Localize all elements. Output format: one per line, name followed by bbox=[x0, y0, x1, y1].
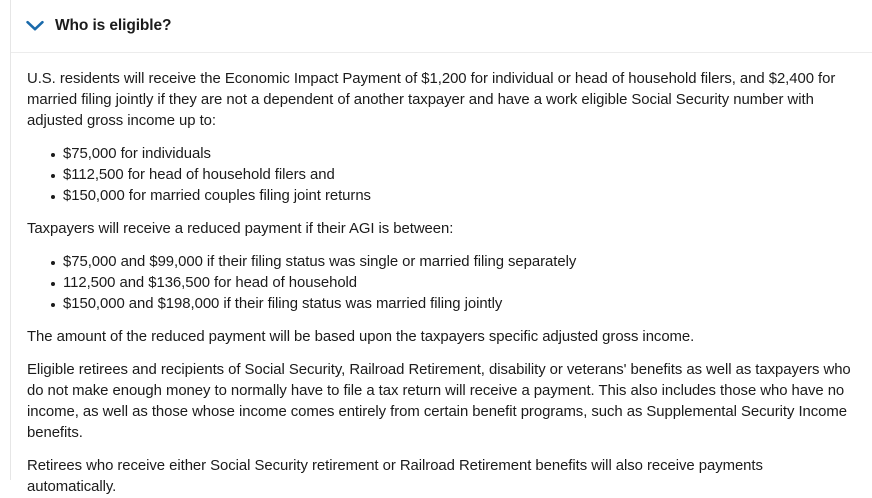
paragraph: Taxpayers will receive a reduced payment… bbox=[27, 219, 854, 240]
list-item: $150,000 and $198,000 if their filing st… bbox=[51, 294, 854, 315]
eligibility-income-list: $75,000 for individuals $112,500 for hea… bbox=[27, 144, 854, 207]
list-item: $150,000 for married couples filing join… bbox=[51, 186, 854, 207]
paragraph: The amount of the reduced payment will b… bbox=[27, 327, 854, 348]
accordion-panel: Who is eligible? U.S. residents will rec… bbox=[10, 0, 872, 480]
reduced-payment-agi-list: $75,000 and $99,000 if their filing stat… bbox=[27, 252, 854, 315]
accordion-title: Who is eligible? bbox=[55, 18, 171, 34]
list-item: $112,500 for head of household filers an… bbox=[51, 165, 854, 186]
paragraph: U.S. residents will receive the Economic… bbox=[27, 69, 854, 132]
chevron-down-icon[interactable] bbox=[24, 15, 46, 37]
page-root: Who is eligible? U.S. residents will rec… bbox=[0, 0, 872, 480]
list-item: 112,500 and $136,500 for head of househo… bbox=[51, 273, 854, 294]
list-item: $75,000 for individuals bbox=[51, 144, 854, 165]
paragraph: Eligible retirees and recipients of Soci… bbox=[27, 360, 854, 444]
paragraph: Retirees who receive either Social Secur… bbox=[27, 456, 854, 498]
accordion-content: U.S. residents will receive the Economic… bbox=[11, 53, 872, 498]
accordion-header-who-is-eligible[interactable]: Who is eligible? bbox=[11, 0, 872, 53]
list-item: $75,000 and $99,000 if their filing stat… bbox=[51, 252, 854, 273]
